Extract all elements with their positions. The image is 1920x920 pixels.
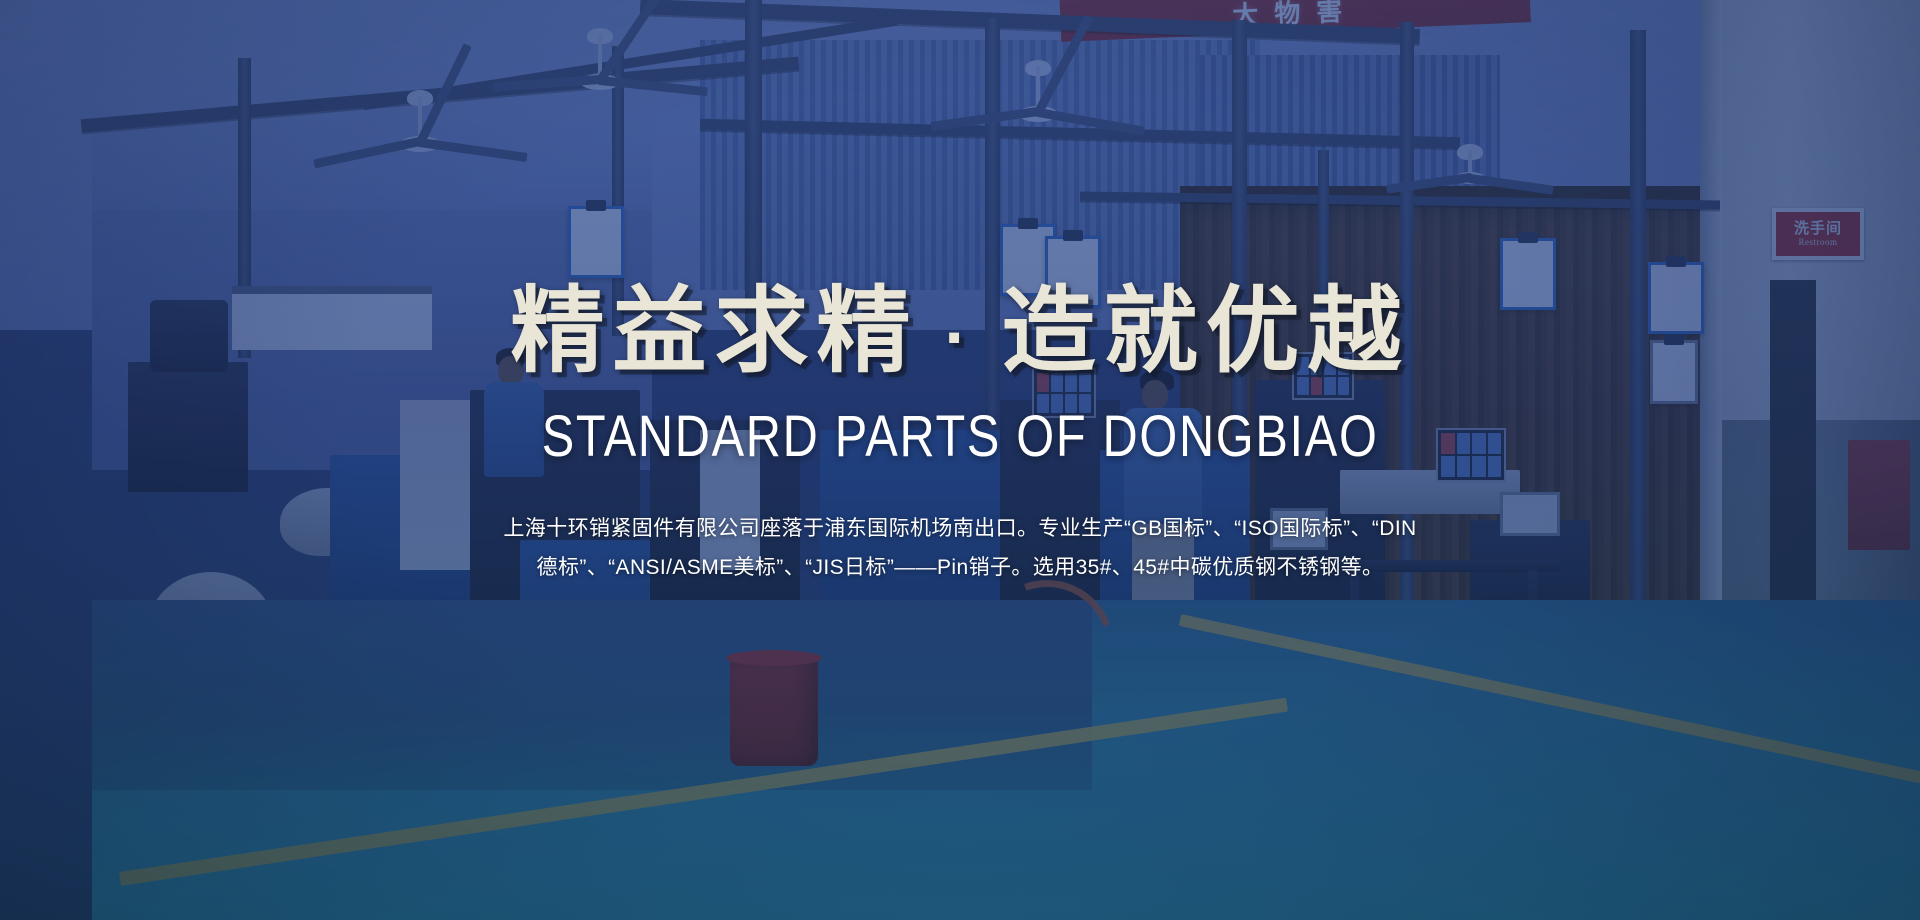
headline-right-text: 造就优越 — [1002, 278, 1410, 383]
subtitle: STANDARD PARTS OF DONGBIAO — [542, 403, 1379, 470]
company-description: 上海十环销紧固件有限公司座落于浦东国际机场南出口。专业生产“GB国标”、“ISO… — [495, 510, 1425, 588]
hero-banner: 洗手间 Restroom 大物害 — [0, 0, 1920, 920]
headline-left-text: 精益求精 — [510, 278, 918, 383]
page-title: 精益求精·造就优越 — [510, 282, 1409, 381]
headline-separator-dot: · — [944, 298, 975, 376]
hero-content: 精益求精·造就优越 STANDARD PARTS OF DONGBIAO 上海十… — [0, 0, 1920, 920]
